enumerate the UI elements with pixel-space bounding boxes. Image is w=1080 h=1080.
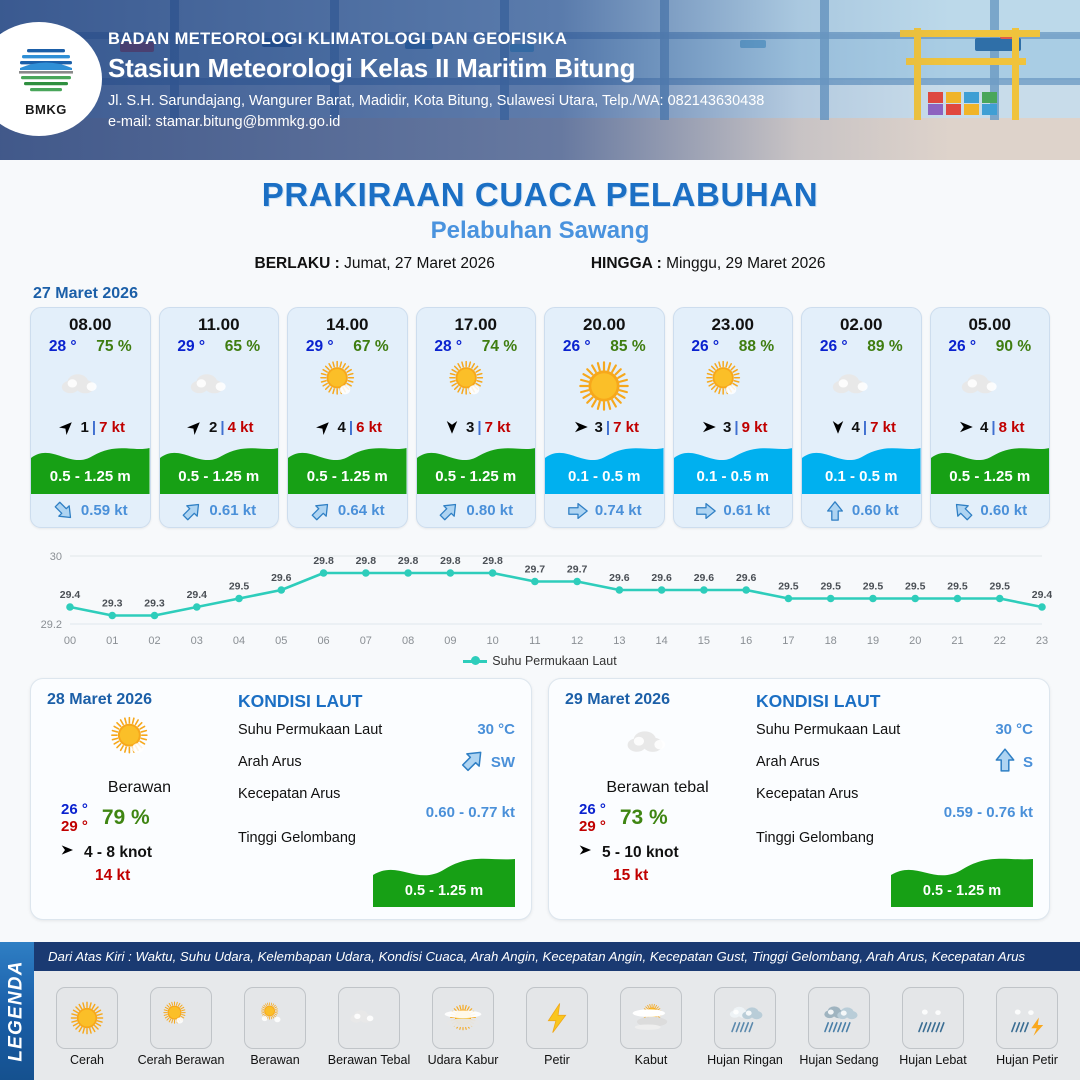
daily-wind-row: 4 - 8 knot <box>47 842 232 863</box>
card-current-row: 0.60 kt <box>802 494 921 527</box>
card-current-speed: 0.59 kt <box>81 502 128 519</box>
legend-item-label: Hujan Ringan <box>707 1053 783 1067</box>
card-wave-height: 0.1 - 0.5 m <box>545 468 664 485</box>
daily-temp-min: 26 ° <box>61 801 88 818</box>
card-wave-block: 0.5 - 1.25 m <box>288 440 407 494</box>
card-wind-speed: 6 kt <box>356 419 382 436</box>
legend-item: Kabut <box>605 987 697 1067</box>
header-text-block: BADAN METEOROLOGI KLIMATOLOGI DAN GEOFIS… <box>108 30 764 130</box>
current-speed-label: Kecepatan Arus <box>238 786 515 802</box>
daily-humidity: 73 % <box>620 806 668 830</box>
card-time: 02.00 <box>802 308 921 335</box>
daily-wind-row: 5 - 10 knot <box>565 842 750 863</box>
svg-text:03: 03 <box>191 635 203 647</box>
bmkg-logo-icon <box>15 41 77 101</box>
svg-text:29.7: 29.7 <box>567 564 588 576</box>
legend-item: Udara Kabur <box>417 987 509 1067</box>
daily-wave-block: 0.5 - 1.25 m <box>891 853 1033 907</box>
daily-temp-row: 26 °29 °79 % <box>47 801 232 835</box>
card-humidity: 89 % <box>867 338 902 356</box>
page-subtitle: Pelabuhan Sawang <box>0 217 1080 245</box>
valid-from-label: BERLAKU : <box>255 255 340 272</box>
wind-direction-icon <box>441 418 463 436</box>
forecast-card[interactable]: 08.0028 °75 %1|7 kt0.5 - 1.25 m0.59 kt <box>30 307 151 528</box>
page-header: BMKG BADAN METEOROLOGI KLIMATOLOGI DAN G… <box>0 0 1080 160</box>
daily-sea-conditions: KONDISI LAUTSuhu Permukaan Laut30 °CArah… <box>232 691 515 909</box>
card-time: 11.00 <box>160 308 279 335</box>
card-wind-speed: 9 kt <box>742 419 768 436</box>
card-weather-cloudy-icon <box>802 356 921 416</box>
current-speed-value: 0.59 - 0.76 kt <box>756 804 1033 821</box>
legend-item: Cerah Berawan <box>135 987 227 1067</box>
svg-text:05: 05 <box>275 635 287 647</box>
station-address: Jl. S.H. Sarundajang, Wangurer Barat, Ma… <box>108 93 764 109</box>
chart-legend: Suhu Permukaan Laut <box>0 654 1080 668</box>
svg-text:29.4: 29.4 <box>1032 589 1052 601</box>
station-email: e-mail: stamar.bitung@bmmkg.go.id <box>108 114 764 130</box>
card-wave-block: 0.5 - 1.25 m <box>931 440 1050 494</box>
card-wind-speed: 7 kt <box>613 419 639 436</box>
forecast-card-list: 08.0028 °75 %1|7 kt0.5 - 1.25 m0.59 kt11… <box>0 307 1080 528</box>
card-temperature: 26 ° <box>820 338 848 356</box>
legend-item: Berawan <box>229 987 321 1067</box>
validity-row: BERLAKU : Jumat, 27 Maret 2026 HINGGA : … <box>0 255 1080 273</box>
chart-legend-label: Suhu Permukaan Laut <box>492 654 616 668</box>
daily-temp-max: 29 ° <box>61 818 88 835</box>
card-current-row: 0.74 kt <box>545 494 664 527</box>
card-time: 23.00 <box>674 308 793 335</box>
svg-text:29.8: 29.8 <box>356 555 377 567</box>
card-wind-row: 4|8 kt <box>931 416 1050 440</box>
card-humidity: 75 % <box>96 338 131 356</box>
current-direction-icon <box>695 500 717 522</box>
wind-separator: | <box>606 419 610 436</box>
svg-text:23: 23 <box>1036 635 1048 647</box>
legend-content: Dari Atas Kiri : Waktu, Suhu Udara, Kele… <box>34 942 1080 1080</box>
svg-text:29.6: 29.6 <box>694 572 715 584</box>
svg-text:29.5: 29.5 <box>229 581 250 593</box>
svg-text:08: 08 <box>402 635 414 647</box>
wind-direction-icon <box>56 418 78 436</box>
card-current-row: 0.59 kt <box>31 494 150 527</box>
legend-rainstorm-icon <box>996 987 1058 1049</box>
card-humidity: 65 % <box>225 338 260 356</box>
card-humidity: 67 % <box>353 338 388 356</box>
daily-forecast-panel[interactable]: 29 Maret 2026Berawan tebal26 °29 °73 %5 … <box>548 678 1050 920</box>
sea-conditions-title: KONDISI LAUT <box>756 691 1033 712</box>
card-wind-degree: 3 <box>723 419 731 436</box>
legend-sunny-icon <box>56 987 118 1049</box>
legend-thunder-icon <box>526 987 588 1049</box>
daily-current-direction-icon <box>992 747 1018 777</box>
card-current-row: 0.61 kt <box>674 494 793 527</box>
card-humidity: 88 % <box>739 338 774 356</box>
svg-text:29.8: 29.8 <box>313 555 334 567</box>
daily-wave-value: 0.5 - 1.25 m <box>373 883 515 899</box>
legend-item: Hujan Sedang <box>793 987 885 1067</box>
wind-separator: | <box>863 419 867 436</box>
legend-item: Berawan Tebal <box>323 987 415 1067</box>
daily-humidity: 79 % <box>102 806 150 830</box>
svg-text:00: 00 <box>64 635 76 647</box>
wind-separator: | <box>734 419 738 436</box>
card-wind-degree: 1 <box>81 419 89 436</box>
card-humidity: 74 % <box>482 338 517 356</box>
legend-fog-icon <box>620 987 682 1049</box>
svg-text:29.8: 29.8 <box>398 555 419 567</box>
current-direction-icon <box>310 500 332 522</box>
svg-text:12: 12 <box>571 635 583 647</box>
legend-item-label: Petir <box>544 1053 570 1067</box>
current-direction-icon <box>567 500 589 522</box>
svg-text:20: 20 <box>909 635 921 647</box>
svg-text:29.5: 29.5 <box>778 581 799 593</box>
wind-separator: | <box>991 419 995 436</box>
legend-item-label: Kabut <box>635 1053 668 1067</box>
card-wind-speed: 4 kt <box>228 419 254 436</box>
card-wind-degree: 3 <box>466 419 474 436</box>
card-temperature: 28 ° <box>49 338 77 356</box>
card-weather-cloudy-icon <box>931 356 1050 416</box>
card-time: 20.00 <box>545 308 664 335</box>
svg-text:29.6: 29.6 <box>609 572 630 584</box>
card-wave-block: 0.1 - 0.5 m <box>802 440 921 494</box>
sst-label: Suhu Permukaan Laut <box>756 722 900 738</box>
legend-cloudy-icon <box>338 987 400 1049</box>
daily-temp-max: 29 ° <box>579 818 606 835</box>
daily-date: 28 Maret 2026 <box>47 691 232 709</box>
card-weather-partly-icon <box>288 356 407 416</box>
current-direction-icon <box>53 500 75 522</box>
svg-text:29.6: 29.6 <box>736 572 757 584</box>
card-time: 05.00 <box>931 308 1050 335</box>
svg-text:10: 10 <box>486 635 498 647</box>
forecast-date-label: 27 Maret 2026 <box>33 285 1080 303</box>
wind-separator: | <box>220 419 224 436</box>
page-title: PRAKIRAAN CUACA PELABUHAN <box>0 176 1080 214</box>
daily-condition: Berawan tebal <box>565 779 750 797</box>
current-direction-icon <box>952 500 974 522</box>
legend-mostly-icon <box>244 987 306 1049</box>
card-wind-row: 4|6 kt <box>288 416 407 440</box>
svg-text:29.5: 29.5 <box>820 581 841 593</box>
card-current-speed: 0.60 kt <box>980 502 1027 519</box>
legend-title-bar: LEGENDA <box>0 942 34 1080</box>
daily-wind-range: 5 - 10 knot <box>602 844 679 862</box>
daily-panel-list: 28 Maret 2026Berawan26 °29 °79 %4 - 8 kn… <box>0 668 1080 920</box>
legend-item-label: Berawan <box>250 1053 299 1067</box>
daily-wind-direction-icon <box>575 842 595 863</box>
daily-date: 29 Maret 2026 <box>565 691 750 709</box>
card-wave-height: 0.5 - 1.25 m <box>160 468 279 485</box>
forecast-card[interactable]: 14.0029 °67 %4|6 kt0.5 - 1.25 m0.64 kt <box>287 307 408 528</box>
legend-item: Cerah <box>41 987 133 1067</box>
card-current-row: 0.61 kt <box>160 494 279 527</box>
card-wind-row: 3|9 kt <box>674 416 793 440</box>
svg-text:06: 06 <box>317 635 329 647</box>
svg-text:29.2: 29.2 <box>41 619 62 631</box>
card-temperature: 28 ° <box>434 338 462 356</box>
daily-wave-block: 0.5 - 1.25 m <box>373 853 515 907</box>
sst-value: 30 °C <box>477 721 515 738</box>
card-wave-block: 0.1 - 0.5 m <box>545 440 664 494</box>
card-wind-degree: 3 <box>595 419 603 436</box>
wind-direction-icon <box>827 418 849 436</box>
card-humidity: 90 % <box>996 338 1031 356</box>
card-wind-row: 3|7 kt <box>417 416 536 440</box>
current-direction-icon <box>824 500 846 522</box>
current-direction-value: S <box>1023 754 1033 771</box>
legend-item-label: Hujan Sedang <box>799 1053 878 1067</box>
current-speed-label: Kecepatan Arus <box>756 786 1033 802</box>
daily-wind-direction-icon <box>57 842 77 863</box>
svg-text:21: 21 <box>951 635 963 647</box>
daily-current-direction-icon <box>460 747 486 777</box>
daily-condition: Berawan <box>47 779 232 797</box>
forecast-card[interactable]: 05.0026 °90 %4|8 kt0.5 - 1.25 m0.60 kt <box>930 307 1051 528</box>
wave-height-label: Tinggi Gelombang <box>238 830 515 846</box>
card-time: 17.00 <box>417 308 536 335</box>
svg-text:29.4: 29.4 <box>60 589 81 601</box>
card-current-speed: 0.80 kt <box>466 502 513 519</box>
card-wind-row: 4|7 kt <box>802 416 921 440</box>
forecast-card[interactable]: 20.0026 °85 %3|7 kt0.1 - 0.5 m0.74 kt <box>544 307 665 528</box>
svg-text:29.8: 29.8 <box>440 555 461 567</box>
agency-name: BADAN METEOROLOGI KLIMATOLOGI DAN GEOFIS… <box>108 30 764 49</box>
legend-item: Hujan Petir <box>981 987 1073 1067</box>
card-wave-block: 0.5 - 1.25 m <box>417 440 536 494</box>
card-temperature: 29 ° <box>306 338 334 356</box>
card-time: 14.00 <box>288 308 407 335</box>
card-current-row: 0.60 kt <box>931 494 1050 527</box>
svg-text:14: 14 <box>656 635 668 647</box>
svg-text:11: 11 <box>529 635 540 647</box>
daily-wave-value: 0.5 - 1.25 m <box>891 883 1033 899</box>
svg-text:18: 18 <box>825 635 837 647</box>
daily-sea-conditions: KONDISI LAUTSuhu Permukaan Laut30 °CArah… <box>750 691 1033 909</box>
daily-gust: 15 kt <box>565 867 750 885</box>
legend-item: Petir <box>511 987 603 1067</box>
svg-text:04: 04 <box>233 635 245 647</box>
valid-from-value: Jumat, 27 Maret 2026 <box>344 255 495 272</box>
legend-item-label: Berawan Tebal <box>328 1053 410 1067</box>
card-wave-height: 0.5 - 1.25 m <box>417 468 536 485</box>
daily-weather-cloudy-icon <box>565 713 750 775</box>
bmkg-logo-text: BMKG <box>25 102 67 117</box>
current-direction-icon <box>438 500 460 522</box>
card-wind-speed: 7 kt <box>485 419 511 436</box>
svg-text:13: 13 <box>613 635 625 647</box>
daily-left: 29 Maret 2026Berawan tebal26 °29 °73 %5 … <box>565 691 750 909</box>
wind-separator: | <box>477 419 481 436</box>
card-weather-sunny-icon <box>545 356 664 416</box>
card-wind-degree: 2 <box>209 419 217 436</box>
card-wind-row: 3|7 kt <box>545 416 664 440</box>
current-speed-value: 0.60 - 0.77 kt <box>238 804 515 821</box>
current-direction-icon <box>181 500 203 522</box>
card-wave-block: 0.1 - 0.5 m <box>674 440 793 494</box>
legend-modrain-icon <box>808 987 870 1049</box>
svg-text:29.5: 29.5 <box>863 581 884 593</box>
legend-lightrain-icon <box>714 987 776 1049</box>
wind-separator: | <box>92 419 96 436</box>
legend-item-label: Hujan Petir <box>996 1053 1058 1067</box>
svg-text:22: 22 <box>994 635 1006 647</box>
card-time: 08.00 <box>31 308 150 335</box>
svg-text:29.3: 29.3 <box>144 598 165 610</box>
svg-text:29.6: 29.6 <box>651 572 672 584</box>
card-wave-block: 0.5 - 1.25 m <box>160 440 279 494</box>
svg-text:17: 17 <box>782 635 794 647</box>
wave-height-label: Tinggi Gelombang <box>756 830 1033 846</box>
card-current-speed: 0.64 kt <box>338 502 385 519</box>
card-current-speed: 0.60 kt <box>852 502 899 519</box>
card-wave-height: 0.5 - 1.25 m <box>931 468 1050 485</box>
svg-text:16: 16 <box>740 635 752 647</box>
legend-item-label: Cerah Berawan <box>138 1053 225 1067</box>
svg-text:29.4: 29.4 <box>187 589 208 601</box>
valid-to: HINGGA : Minggu, 29 Maret 2026 <box>591 255 826 273</box>
current-direction-label: Arah Arus <box>238 754 302 770</box>
svg-text:29.5: 29.5 <box>947 581 968 593</box>
forecast-card[interactable]: 17.0028 °74 %3|7 kt0.5 - 1.25 m0.80 kt <box>416 307 537 528</box>
svg-text:30: 30 <box>50 551 62 563</box>
wind-direction-icon <box>955 418 977 436</box>
card-wave-height: 0.1 - 0.5 m <box>802 468 921 485</box>
wind-direction-icon <box>184 418 206 436</box>
card-current-speed: 0.61 kt <box>209 502 256 519</box>
svg-text:09: 09 <box>444 635 456 647</box>
card-temperature: 29 ° <box>177 338 205 356</box>
card-weather-partly-icon <box>417 356 536 416</box>
daily-weather-partly-icon <box>47 713 232 775</box>
current-direction-value: SW <box>491 754 515 771</box>
card-wind-row: 1|7 kt <box>31 416 150 440</box>
svg-text:29.3: 29.3 <box>102 598 123 610</box>
legend-section: LEGENDA Dari Atas Kiri : Waktu, Suhu Uda… <box>0 942 1080 1080</box>
card-current-row: 0.64 kt <box>288 494 407 527</box>
svg-text:02: 02 <box>148 635 160 647</box>
card-humidity: 85 % <box>610 338 645 356</box>
card-wind-speed: 8 kt <box>999 419 1025 436</box>
station-name: Stasiun Meteorologi Kelas II Maritim Bit… <box>108 53 764 84</box>
svg-text:15: 15 <box>698 635 710 647</box>
legend-heavyrain-icon <box>902 987 964 1049</box>
svg-text:29.5: 29.5 <box>990 581 1011 593</box>
card-wave-height: 0.5 - 1.25 m <box>31 468 150 485</box>
card-weather-cloudy-icon <box>160 356 279 416</box>
card-wind-speed: 7 kt <box>99 419 125 436</box>
chart-legend-marker <box>463 660 487 663</box>
card-wave-block: 0.5 - 1.25 m <box>31 440 150 494</box>
sst-chart: 3029.229.40029.30129.30229.40329.50429.6… <box>28 542 1052 652</box>
card-current-speed: 0.61 kt <box>723 502 770 519</box>
sst-value: 30 °C <box>995 721 1033 738</box>
legend-item-label: Udara Kabur <box>428 1053 499 1067</box>
daily-wind-range: 4 - 8 knot <box>84 844 152 862</box>
daily-temp-row: 26 °29 °73 % <box>565 801 750 835</box>
daily-forecast-panel[interactable]: 28 Maret 2026Berawan26 °29 °79 %4 - 8 kn… <box>30 678 532 920</box>
forecast-card[interactable]: 11.0029 °65 %2|4 kt0.5 - 1.25 m0.61 kt <box>159 307 280 528</box>
legend-item-label: Cerah <box>70 1053 104 1067</box>
forecast-card[interactable]: 23.0026 °88 %3|9 kt0.1 - 0.5 m0.61 kt <box>673 307 794 528</box>
card-current-row: 0.80 kt <box>417 494 536 527</box>
card-current-speed: 0.74 kt <box>595 502 642 519</box>
wind-direction-icon <box>570 418 592 436</box>
svg-text:19: 19 <box>867 635 879 647</box>
svg-text:01: 01 <box>106 635 118 647</box>
valid-to-label: HINGGA : <box>591 255 662 272</box>
sst-label: Suhu Permukaan Laut <box>238 722 382 738</box>
legend-item-label: Hujan Lebat <box>899 1053 966 1067</box>
legend-partly-icon <box>150 987 212 1049</box>
card-wind-speed: 7 kt <box>870 419 896 436</box>
card-weather-cloudy-icon <box>31 356 150 416</box>
valid-from: BERLAKU : Jumat, 27 Maret 2026 <box>255 255 495 273</box>
svg-text:29.8: 29.8 <box>482 555 503 567</box>
card-weather-partly-icon <box>674 356 793 416</box>
wind-separator: | <box>349 419 353 436</box>
card-wave-height: 0.1 - 0.5 m <box>674 468 793 485</box>
svg-text:07: 07 <box>360 635 372 647</box>
legend-item: Hujan Lebat <box>887 987 979 1067</box>
wind-direction-icon <box>313 418 335 436</box>
forecast-card[interactable]: 02.0026 °89 %4|7 kt0.1 - 0.5 m0.60 kt <box>801 307 922 528</box>
card-wind-degree: 4 <box>338 419 346 436</box>
legend-haze-icon <box>432 987 494 1049</box>
card-temperature: 26 ° <box>691 338 719 356</box>
valid-to-value: Minggu, 29 Maret 2026 <box>666 255 825 272</box>
legend-note: Dari Atas Kiri : Waktu, Suhu Udara, Kele… <box>34 942 1080 971</box>
svg-text:29.5: 29.5 <box>905 581 926 593</box>
wind-direction-icon <box>698 418 720 436</box>
card-wind-degree: 4 <box>852 419 860 436</box>
legend-item: Hujan Ringan <box>699 987 791 1067</box>
sea-conditions-title: KONDISI LAUT <box>238 691 515 712</box>
card-temperature: 26 ° <box>563 338 591 356</box>
card-wind-row: 2|4 kt <box>160 416 279 440</box>
daily-gust: 14 kt <box>47 867 232 885</box>
current-direction-label: Arah Arus <box>756 754 820 770</box>
card-temperature: 26 ° <box>948 338 976 356</box>
svg-text:29.7: 29.7 <box>525 564 546 576</box>
daily-temp-min: 26 ° <box>579 801 606 818</box>
legend-icon-list: CerahCerah BerawanBerawanBerawan TebalUd… <box>34 971 1080 1080</box>
card-wind-degree: 4 <box>980 419 988 436</box>
svg-text:29.6: 29.6 <box>271 572 292 584</box>
legend-title: LEGENDA <box>6 960 28 1061</box>
daily-left: 28 Maret 2026Berawan26 °29 °79 %4 - 8 kn… <box>47 691 232 909</box>
card-wave-height: 0.5 - 1.25 m <box>288 468 407 485</box>
